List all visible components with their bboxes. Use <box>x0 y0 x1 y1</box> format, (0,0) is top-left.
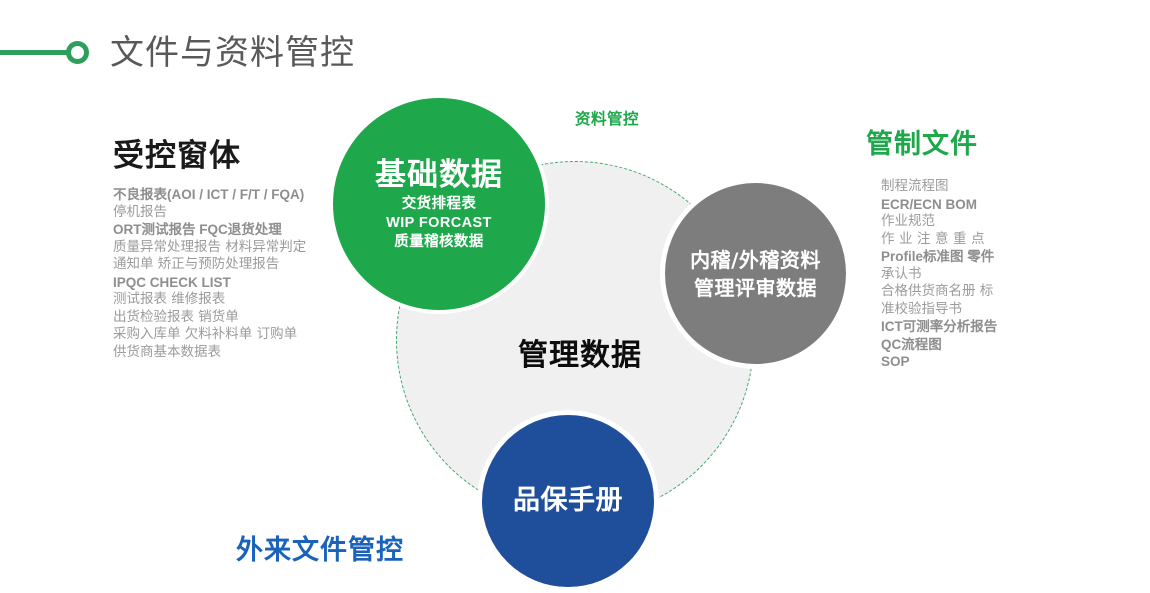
bubble-title: 基础数据 <box>375 157 503 193</box>
venn-bubble-quality-manual[interactable]: 品保手册 <box>482 415 654 587</box>
list-item: 停机报告 <box>113 204 306 222</box>
list-item: 质量异常处理报告 材料异常判定 <box>113 239 306 257</box>
list-item: ICT可测率分析报告 <box>881 318 997 336</box>
header-dot-icon <box>66 41 89 64</box>
bubble-subline: WIP FORCAST <box>386 214 492 233</box>
right-column-heading: 管制文件 <box>866 122 978 161</box>
bubble-line-2: 管理评审数据 <box>694 274 817 302</box>
list-item: 合格供货商名册 标 <box>881 283 997 301</box>
venn-bubble-audit-data[interactable]: 内稽/外稽资料 管理评审数据 <box>665 183 846 364</box>
bubble-subline: 质量稽核数据 <box>394 233 483 252</box>
list-item: QC流程图 <box>881 336 997 354</box>
list-item: 作业注意重点 <box>881 231 997 249</box>
list-item: 准校验指导书 <box>881 301 997 319</box>
list-item: SOP <box>881 353 997 371</box>
list-item: 不良报表(AOI / ICT / F/T / FQA) <box>113 186 306 204</box>
list-item: Profile标准图 零件 <box>881 248 997 266</box>
list-item: 采购入库单 欠料补料单 订购单 <box>113 326 306 344</box>
bubble-subline: 交货排程表 <box>402 195 477 214</box>
list-item: ECR/ECN BOM <box>881 196 997 214</box>
list-item: 承认书 <box>881 266 997 284</box>
list-item: 测试报表 维修报表 <box>113 291 306 309</box>
list-item: 制程流程图 <box>881 178 997 196</box>
venn-bubble-basic-data[interactable]: 基础数据 交货排程表 WIP FORCAST 质量稽核数据 <box>333 98 545 310</box>
bubble-line-1: 内稽/外稽资料 <box>690 246 821 274</box>
venn-tag-data-control: 资料管控 <box>575 107 639 129</box>
slide-canvas: 文件与资料管控 受控窗体 不良报表(AOI / ICT / F/T / FQA)… <box>0 0 1150 593</box>
list-item: 作业规范 <box>881 213 997 231</box>
left-column-heading: 受控窗体 <box>113 130 241 175</box>
list-item: 通知单 矫正与预防处理报告 <box>113 256 306 274</box>
bubble-title: 品保手册 <box>513 485 623 517</box>
list-item: 出货检验报表 销货单 <box>113 309 306 327</box>
left-column-list: 不良报表(AOI / ICT / F/T / FQA) 停机报告 ORT测试报告… <box>113 186 306 361</box>
list-item: IPQC CHECK LIST <box>113 274 306 292</box>
venn-tag-external-doc-control: 外来文件管控 <box>236 528 404 567</box>
right-column-list: 制程流程图 ECR/ECN BOM 作业规范 作业注意重点 Profile标准图… <box>881 178 997 371</box>
page-title: 文件与资料管控 <box>110 25 355 74</box>
venn-center-label: 管理数据 <box>495 330 665 374</box>
header-accent-line <box>0 50 74 55</box>
list-item: 供货商基本数据表 <box>113 344 306 362</box>
list-item: ORT测试报告 FQC退货处理 <box>113 221 306 239</box>
